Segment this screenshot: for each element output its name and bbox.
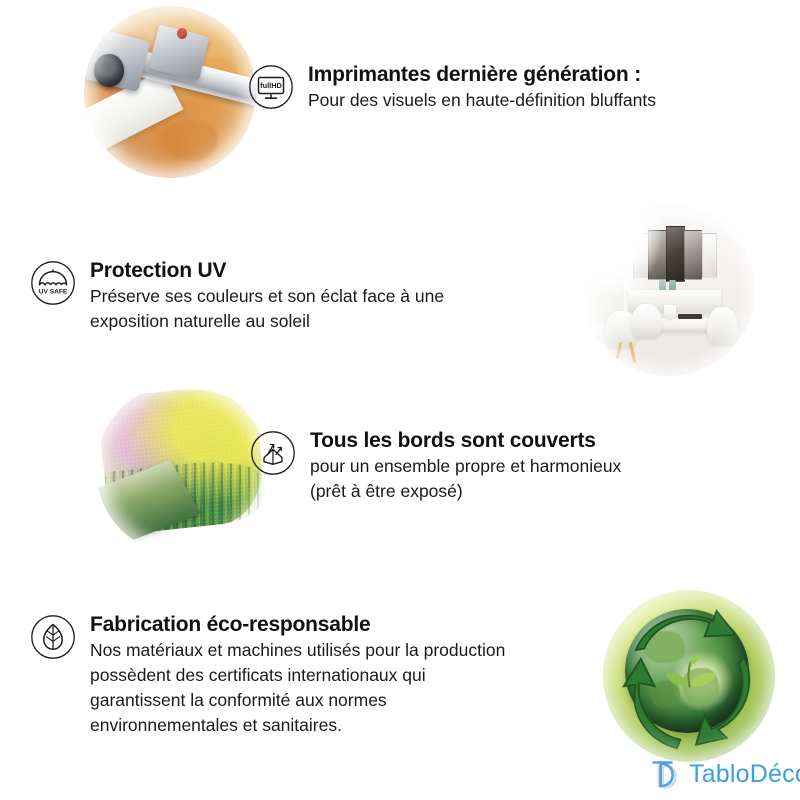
feature-block-covered-edges: Tous les bords sont couverts pour un ens… <box>250 428 621 504</box>
feature-block-eco-manufacturing: Fabrication éco-responsable Nos matériau… <box>30 612 505 738</box>
feature-title: Imprimantes dernière génération : <box>308 63 641 86</box>
description-line: environnementales et sanitaires. <box>90 713 505 738</box>
description-line: exposition naturelle au soleil <box>90 309 444 334</box>
brand-name: TabloDéco <box>689 762 800 787</box>
description-line: pour un ensemble propre et harmonieux <box>310 454 621 479</box>
chair <box>631 304 662 338</box>
map-landmass <box>160 120 218 161</box>
feature-block-printing: fullHD Imprimantes dernière génération :… <box>248 62 656 113</box>
feature-text: Fabrication éco-responsable Nos matériau… <box>90 612 505 738</box>
feature-title: Fabrication éco-responsable <box>90 613 371 636</box>
feature-block-uv-protection: UV SAFE Protection UV Préserve ses coule… <box>30 258 444 334</box>
description-line: (prêt à être exposé) <box>310 479 621 504</box>
photo-inner <box>84 6 256 178</box>
feature-text: Tous les bords sont couverts pour un ens… <box>310 428 621 504</box>
uv-safe-umbrella-icon: UV SAFE <box>30 260 76 306</box>
canvas-corner-colorful-photo <box>96 383 268 555</box>
window-light-glow <box>583 204 662 300</box>
art-panel <box>684 230 701 280</box>
fullhd-monitor-icon: fullHD <box>248 64 294 110</box>
photo-inner <box>583 204 755 376</box>
brand-logo[interactable]: TabloDéco ™ .fr <box>648 757 800 791</box>
canvas-edge-wrap-icon <box>250 430 296 476</box>
description-line: Préserve ses couleurs et son éclat face … <box>90 284 444 309</box>
svg-text:fullHD: fullHD <box>260 81 282 90</box>
infographic-page: fullHD Imprimantes dernière génération :… <box>0 0 800 800</box>
photo-inner <box>96 383 268 555</box>
art-panel <box>702 233 718 278</box>
feature-text: Protection UV Préserve ses couleurs et s… <box>90 258 444 334</box>
eco-globe-recycle-photo <box>603 590 775 762</box>
dining-room-wall-art-photo <box>583 204 755 376</box>
printer-indicator-dot <box>177 28 187 38</box>
printer-roller-hub <box>94 54 123 87</box>
cup <box>664 305 676 319</box>
brand-wordmark: TabloDéco ™ .fr <box>689 762 800 787</box>
td-monogram-icon <box>648 757 682 791</box>
svg-text:UV SAFE: UV SAFE <box>39 289 68 296</box>
feature-description: pour un ensemble propre et harmonieux (p… <box>310 454 621 504</box>
leaf-sprout-icon <box>655 652 724 690</box>
feature-description: Nos matériaux et machines utilisés pour … <box>90 638 505 737</box>
description-line: Pour des visuels en haute-définition blu… <box>308 88 656 113</box>
feature-text: Imprimantes dernière génération : Pour d… <box>308 62 656 113</box>
art-panel <box>666 226 685 281</box>
photo-inner <box>603 590 775 762</box>
printer-roller-world-map-photo <box>84 6 256 178</box>
chair <box>707 307 738 345</box>
feature-title: Protection UV <box>90 259 226 282</box>
description-line: garantissent la conformité aux normes <box>90 688 505 713</box>
feature-description: Préserve ses couleurs et son éclat face … <box>90 284 444 334</box>
tray <box>678 314 702 319</box>
description-line: Nos matériaux et machines utilisés pour … <box>90 638 505 663</box>
description-line: possèdent des certificats internationaux… <box>90 663 505 688</box>
feature-title: Tous les bords sont couverts <box>310 429 596 452</box>
leaf-icon <box>30 614 76 660</box>
feature-description: Pour des visuels en haute-définition blu… <box>308 88 656 113</box>
